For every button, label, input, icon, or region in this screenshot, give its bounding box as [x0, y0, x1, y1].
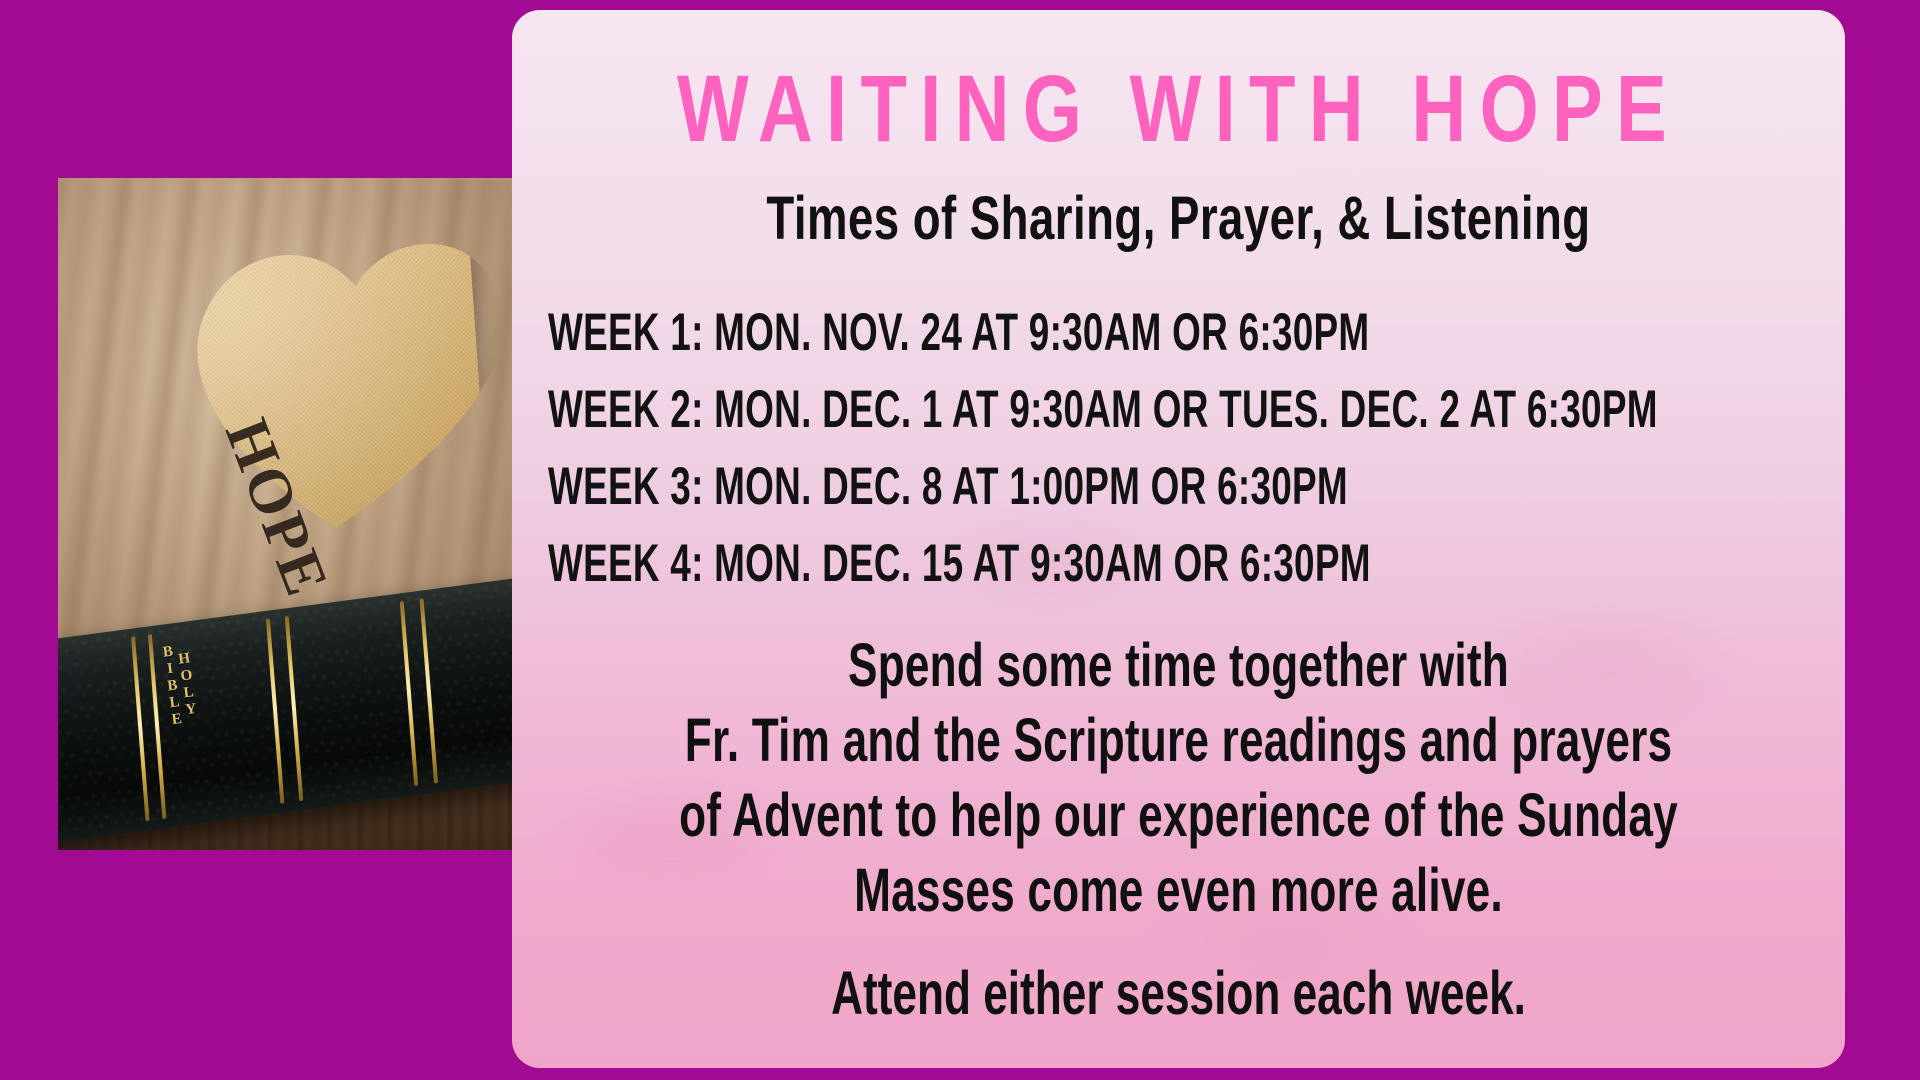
- list-item: WEEK 4: MON. DEC. 15 AT 9:30AM OR 6:30PM: [548, 537, 1683, 590]
- announcement-card: WAITING WITH HOPE Times of Sharing, Pray…: [512, 10, 1845, 1068]
- schedule-list: WEEK 1: MON. NOV. 24 AT 9:30AM OR 6:30PM…: [548, 306, 1809, 578]
- closing-statement: Attend either session each week.: [586, 962, 1771, 1023]
- bible-gold-band: [147, 634, 166, 820]
- heart-shape: [162, 217, 500, 703]
- list-item: WEEK 2: MON. DEC. 1 AT 9:30AM OR TUES. D…: [548, 383, 1683, 436]
- description-line: Masses come even more alive.: [586, 859, 1771, 920]
- list-item: WEEK 3: MON. DEC. 8 AT 1:00PM OR 6:30PM: [548, 460, 1683, 513]
- description-line: Spend some time together with: [586, 634, 1771, 695]
- list-item: WEEK 1: MON. NOV. 24 AT 9:30AM OR 6:30PM: [548, 306, 1683, 359]
- subtitle: Times of Sharing, Prayer, & Listening: [592, 184, 1765, 254]
- description-line: Fr. Tim and the Scripture readings and p…: [586, 709, 1771, 770]
- description-paragraph: Spend some time together with Fr. Tim an…: [548, 634, 1809, 906]
- card-content: WAITING WITH HOPE Times of Sharing, Pray…: [512, 10, 1845, 1068]
- page-title: WAITING WITH HOPE: [580, 62, 1778, 156]
- description-line: of Advent to help our experience of the …: [586, 784, 1771, 845]
- bible-gold-band: [131, 636, 150, 822]
- burlap-heart: HOPE: [165, 222, 496, 699]
- hope-heart-bible-photo: HOLY BIBLE HOPE: [58, 178, 513, 850]
